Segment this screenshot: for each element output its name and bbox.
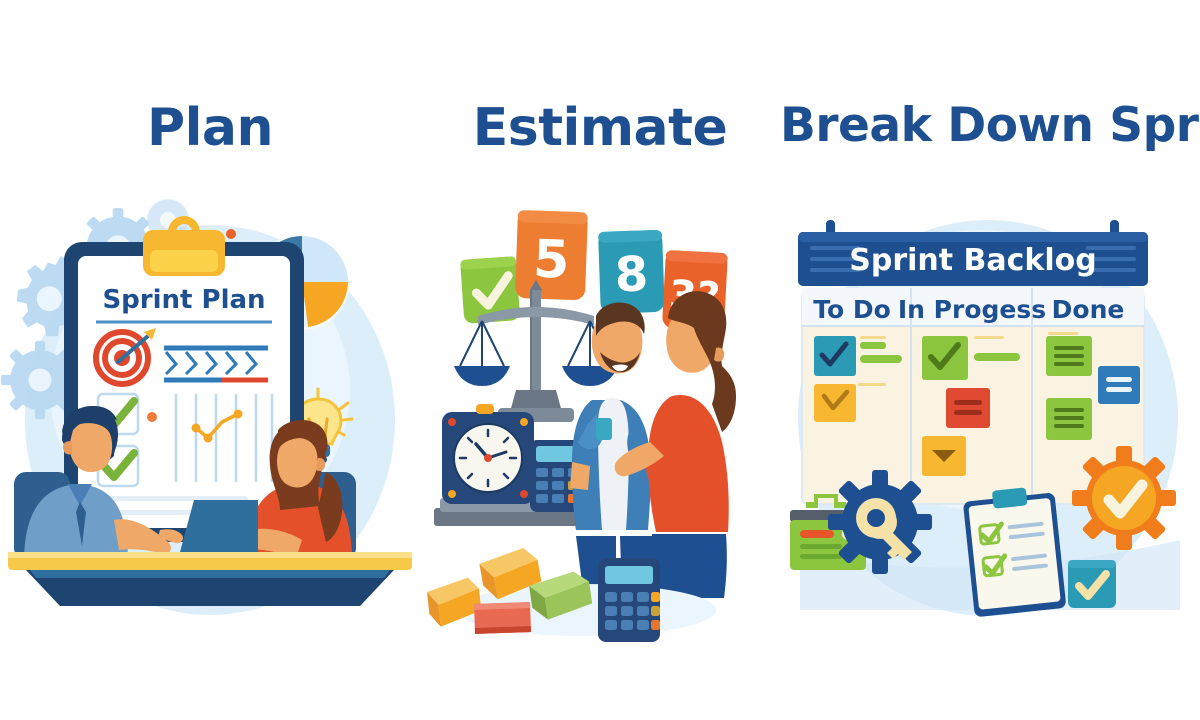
kanban-card-progress-3 (922, 436, 966, 476)
panel-plan-illustration: Sprint Plan (0, 190, 420, 670)
estimate-card-5-value: 5 (532, 230, 570, 291)
clipboard-title: Sprint Plan (102, 285, 265, 315)
kanban-card-progress-2 (946, 388, 990, 428)
kanban-column-header-in-progess: In Progess (898, 295, 1046, 324)
desk (8, 552, 412, 606)
panel-estimate-illustration: 5 8 3? (420, 190, 780, 670)
kanban-column-header-done: Done (1052, 295, 1125, 324)
panel-estimate: Estimate 5 (420, 0, 780, 720)
calculator-large-icon (598, 558, 660, 642)
board-title: Sprint Backlog (849, 243, 1097, 278)
clipboard-checklist-icon (962, 484, 1066, 617)
panel-plan: Plan (0, 0, 420, 720)
gear-with-key-icon (828, 470, 932, 574)
panel-estimate-title: Estimate (420, 98, 780, 158)
sticky-note-red (474, 602, 531, 634)
kanban-card-done-2 (1046, 398, 1092, 440)
kanban-card-done-1 (1046, 332, 1092, 376)
estimate-card-8-value: 8 (614, 246, 649, 303)
kanban-card-floating (1098, 366, 1140, 404)
clock-icon (442, 404, 534, 504)
panel-sprint-title: Break Down Sprints (780, 98, 1200, 153)
panel-sprint: Break Down Sprints (780, 0, 1200, 720)
kanban-column-header-todo: To Do (813, 295, 891, 324)
estimate-card-8: 8 (598, 230, 665, 314)
estimate-card-5: 5 (515, 210, 588, 300)
panel-plan-title: Plan (0, 98, 420, 158)
gear-check-orange-icon (1072, 446, 1176, 550)
panel-sprint-illustration: Sprint Backlog To Do In Progess Done (780, 190, 1200, 670)
check-card-teal (1068, 560, 1116, 608)
infographic-canvas: Plan (0, 0, 1200, 720)
